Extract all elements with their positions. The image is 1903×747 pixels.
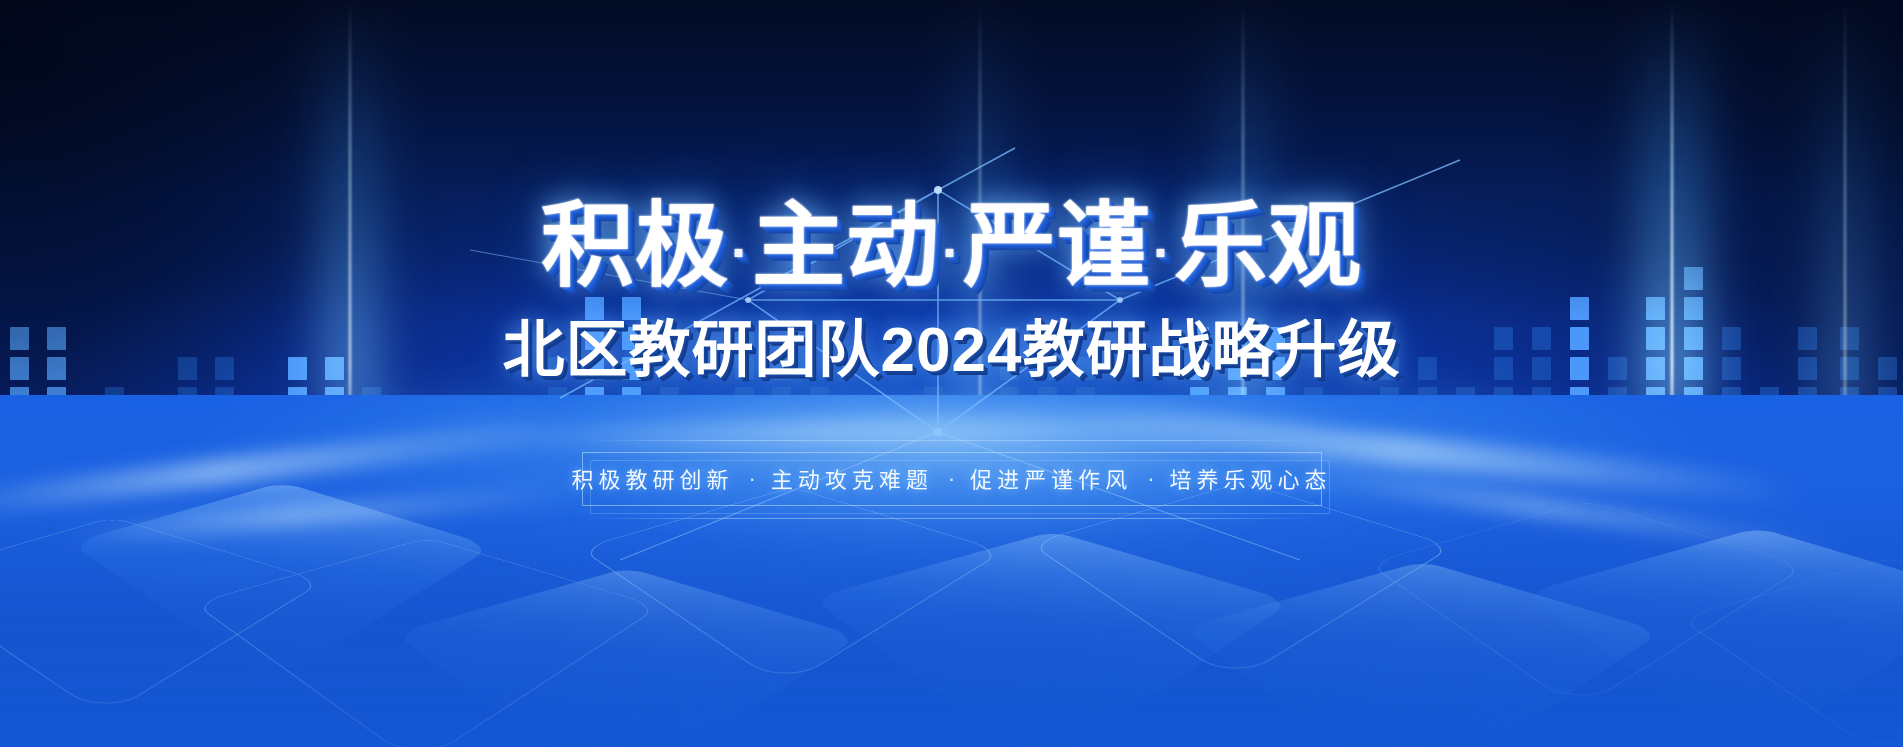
- promo-banner: 积极·主动·严谨·乐观 北区教研团队2024教研战略升级 积极教研创新 · 主动…: [0, 0, 1903, 747]
- tagline-separator: ·: [1147, 466, 1154, 492]
- title-separator: ·: [731, 223, 750, 283]
- tagline-bottom-rule: [582, 518, 1322, 519]
- page-subtitle: 北区教研团队2024教研战略升级: [0, 320, 1903, 382]
- tagline-text: 积极教研创新 · 主动攻克难题 · 促进严谨作风 · 培养乐观心态: [582, 452, 1322, 506]
- title-word-4: 乐观: [1174, 194, 1362, 298]
- tagline-separator: ·: [948, 466, 955, 492]
- title-word-1: 积极: [541, 194, 729, 298]
- tagline-container: 积极教研创新 · 主动攻克难题 · 促进严谨作风 · 培养乐观心态: [582, 452, 1322, 506]
- tagline-item-4: 培养乐观心态: [1170, 463, 1332, 495]
- tagline-separator: ·: [749, 466, 756, 492]
- title-separator: ·: [942, 223, 961, 283]
- page-title: 积极·主动·严谨·乐观: [0, 200, 1903, 293]
- tagline-item-3: 促进严谨作风: [970, 463, 1132, 495]
- title-word-2: 主动: [752, 194, 940, 298]
- tagline-item-2: 主动攻克难题: [771, 463, 933, 495]
- tagline-top-rule: [582, 440, 1322, 441]
- banner-content: 积极·主动·严谨·乐观 北区教研团队2024教研战略升级 积极教研创新 · 主动…: [0, 0, 1903, 747]
- title-separator: ·: [1153, 223, 1172, 283]
- title-word-3: 严谨: [963, 194, 1151, 298]
- tagline-item-1: 积极教研创新: [571, 463, 733, 495]
